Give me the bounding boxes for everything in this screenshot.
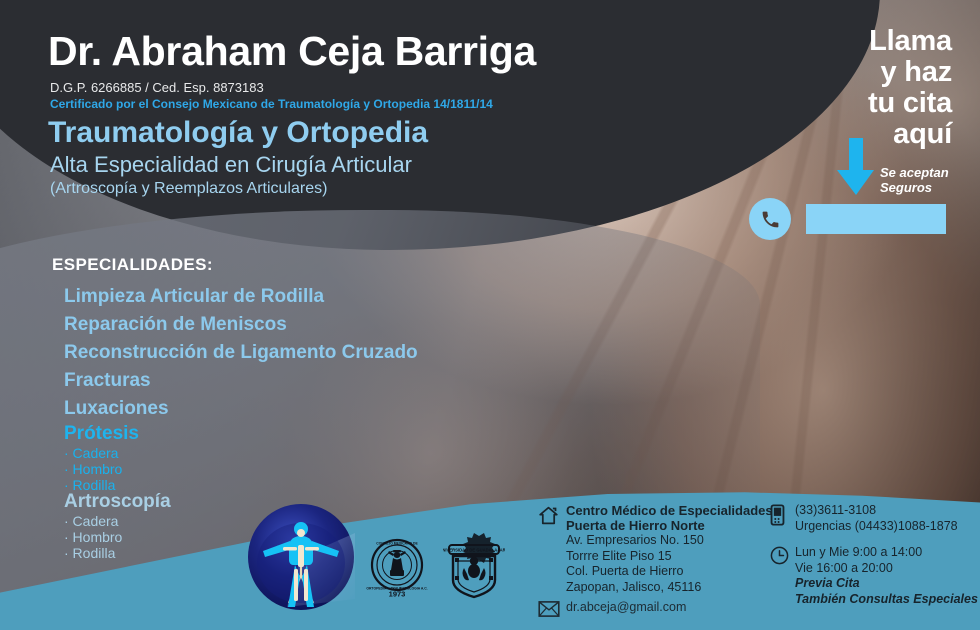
specialties-list: Limpieza Articular de Rodilla Reparación… <box>64 283 418 423</box>
mobile-phone-icon <box>770 504 785 531</box>
call-to-action: Llama y haz tu cita aquí <box>802 26 952 150</box>
clinic-name-line2: Puerta de Hierro Norte <box>566 518 773 533</box>
list-item: Limpieza Articular de Rodilla <box>64 283 418 311</box>
list-item: · Cadera <box>64 513 171 529</box>
cta-line-4: aquí <box>802 119 952 150</box>
list-item: Reconstrucción de Ligamento Cruzado <box>64 339 418 367</box>
specialty-heading: Traumatología y Ortopedia <box>48 116 428 150</box>
address-line-4: Zapopan, Jalisco, 45116 <box>566 580 773 596</box>
insurance-note: Se aceptan Seguros <box>880 165 976 195</box>
cta-line-3: tu cita <box>802 88 952 119</box>
universidad-de-guadalajara-crest: UNIVERSIDAD DE GUADALAJARA <box>443 531 505 599</box>
phone-row: (33)3611-3108 Urgencias (04433)1088-1878 <box>770 503 958 534</box>
consejo-mexicano-ortopedia-seal: CONSEJO MEXICANO DE ORTOPEDIA Y TRAUMATO… <box>366 537 428 599</box>
specialties-heading: ESPECIALIDADES: <box>52 255 213 275</box>
phone-icon[interactable] <box>749 198 791 240</box>
cta-line-2: y haz <box>802 57 952 88</box>
phone-emergency: Urgencias (04433)1088-1878 <box>795 519 958 535</box>
list-item: · Hombro <box>64 461 139 477</box>
svg-text:CONSEJO MEXICANO DE: CONSEJO MEXICANO DE <box>376 542 418 546</box>
license-numbers: D.G.P. 6266885 / Ced. Esp. 8873183 <box>50 80 264 95</box>
clinic-name-line1: Centro Médico de Especialidades <box>566 503 773 518</box>
arthroscopy-items: · Cadera · Hombro · Rodilla <box>64 513 171 561</box>
hours-row: Lun y Mie 9:00 a 14:00 Vie 16:00 a 20:00… <box>770 545 978 607</box>
clinic-flyer: Dr. Abraham Ceja Barriga D.G.P. 6266885 … <box>0 0 980 630</box>
hours-note-2: También Consultas Especiales <box>795 592 978 608</box>
address-line-3: Col. Puerta de Hierro <box>566 564 773 580</box>
page-title: Dr. Abraham Ceja Barriga <box>48 28 536 75</box>
home-icon <box>538 505 559 531</box>
list-item: Fracturas <box>64 367 418 395</box>
specialty-subheading: Alta Especialidad en Cirugía Articular <box>50 152 412 178</box>
phone-number-field[interactable] <box>806 204 946 234</box>
down-arrow-icon <box>835 138 877 196</box>
address-line-1: Av. Empresarios No. 150 <box>566 533 773 549</box>
email-row[interactable]: dr.abceja@gmail.com <box>538 600 686 614</box>
list-item: · Rodilla <box>64 545 171 561</box>
address-line-2: Torrre Elite Piso 15 <box>566 549 773 565</box>
envelope-icon <box>538 601 560 620</box>
prosthesis-items: · Cadera · Hombro · Rodilla <box>64 445 139 493</box>
specialty-subheading-secondary: (Artroscopía y Reemplazos Articulares) <box>50 180 327 198</box>
arthroscopy-group: Artroscopía · Cadera · Hombro · Rodilla <box>64 491 171 561</box>
clock-icon <box>770 546 789 570</box>
hours-note-1: Previa Cita <box>795 576 978 592</box>
arthroscopy-title: Artroscopía <box>64 491 171 513</box>
prosthesis-group: Prótesis · Cadera · Hombro · Rodilla <box>64 423 139 493</box>
list-item: · Hombro <box>64 529 171 545</box>
hours-line-1: Lun y Mie 9:00 a 14:00 <box>795 545 978 561</box>
list-item: · Cadera <box>64 445 139 461</box>
vitruvian-man-logo <box>247 503 355 611</box>
email-address[interactable]: dr.abceja@gmail.com <box>566 600 686 614</box>
clinic-address: Centro Médico de Especialidades Puerta d… <box>538 503 773 595</box>
list-item: Luxaciones <box>64 395 418 423</box>
cta-line-1: Llama <box>802 26 952 57</box>
certification-line: Certificado por el Consejo Mexicano de T… <box>50 97 493 111</box>
prosthesis-title: Prótesis <box>64 423 139 445</box>
list-item: Reparación de Meniscos <box>64 311 418 339</box>
hours-line-2: Vie 16:00 a 20:00 <box>795 561 978 577</box>
svg-text:UNIVERSIDAD DE GUADALAJARA: UNIVERSIDAD DE GUADALAJARA <box>443 548 505 553</box>
phone-main: (33)3611-3108 <box>795 503 958 519</box>
seal-year: 1973 <box>389 590 406 599</box>
